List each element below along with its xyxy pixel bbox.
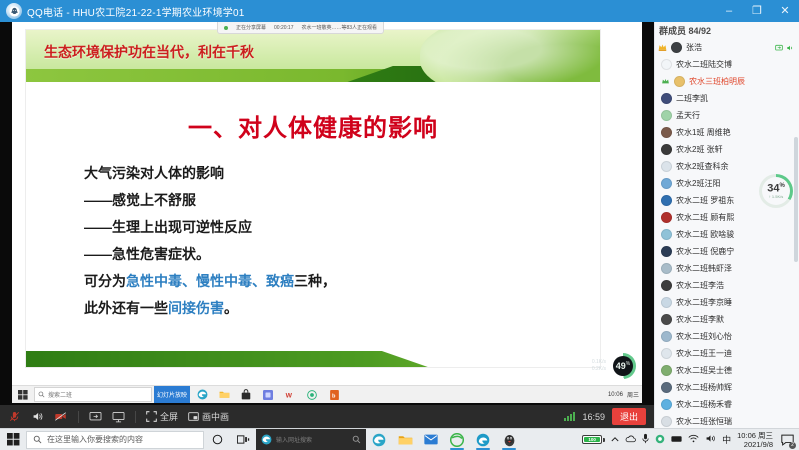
remote-app-explorer[interactable]: [214, 386, 234, 403]
remote-clock-date: 周三: [627, 390, 639, 399]
onedrive-icon[interactable]: [625, 435, 636, 445]
slide-line-5-pre: 可分为: [84, 273, 126, 289]
signal-strength-icon: [564, 412, 575, 421]
sharing-status-text: 正在分享屏幕: [236, 24, 266, 31]
avatar: [661, 297, 672, 308]
screen-share-icon: [775, 44, 783, 52]
sharing-viewers: 农水一班敬英……等83人正在观看: [301, 24, 377, 31]
avatar: [661, 178, 672, 189]
member-name: 二班李凯: [676, 93, 708, 104]
member-row[interactable]: 孟天行: [655, 107, 799, 124]
remote-search-text: 搜索二班: [48, 390, 72, 399]
search-icon: [352, 435, 361, 444]
avatar: [661, 416, 672, 427]
member-row[interactable]: 农水2班查科余: [655, 158, 799, 175]
notification-badge: 2: [789, 442, 796, 449]
member-row[interactable]: 农水二班张恒瑞: [655, 413, 799, 428]
slide-line-6-highlight: 间接伤害: [168, 300, 224, 316]
window-title-bar: QQ电话 - HHU农工院21-22-1学期农业环境学01 – ❐ ✕: [0, 0, 799, 22]
edge-icon: [261, 434, 272, 445]
member-name: 农水二班杨帅辉: [676, 382, 732, 393]
slide-line-2: ——感觉上不舒服: [84, 187, 544, 214]
cortana-icon: [212, 434, 223, 445]
avatar: [661, 127, 672, 138]
avatar: [661, 144, 672, 155]
tray-device-icon[interactable]: [671, 435, 682, 445]
cortana-button[interactable]: [204, 429, 230, 450]
avatar: [661, 246, 672, 257]
member-row[interactable]: 二班李凯: [655, 90, 799, 107]
powerpoint-slide: 生态环境保护功在当代，利在千秋 一、对人体健康的影响 大气污染对人体的影响 ——…: [26, 30, 600, 367]
member-name: 农水二班陆交博: [676, 59, 732, 70]
slide-header-band-dark: [347, 66, 600, 82]
member-name: 张浩: [686, 42, 702, 53]
taskbar-clock[interactable]: 10:06 周三 2021/9/8: [737, 431, 773, 449]
avatar: [661, 93, 672, 104]
task-view-button[interactable]: [230, 429, 256, 450]
volume-tray-icon[interactable]: [705, 434, 716, 445]
member-list-scrollbar[interactable]: [794, 137, 798, 262]
exit-call-button[interactable]: 退出: [612, 408, 646, 425]
avatar: [661, 59, 672, 70]
search-icon: [38, 391, 45, 398]
net-upload: 0.2K/s: [592, 366, 606, 373]
slide-line-6-post: 。: [224, 300, 238, 316]
task-view-icon: [237, 434, 250, 445]
member-row[interactable]: 农水2班 张轩: [655, 141, 799, 158]
taskbar-app-mail[interactable]: [418, 429, 444, 450]
ie-icon: [450, 433, 464, 447]
slide-body: 大气污染对人体的影响 ——感觉上不舒服 ——生理上出现可逆性反应 ——急性危害症…: [84, 160, 544, 322]
net-download: 0.1K/s: [592, 359, 606, 366]
avatar: [661, 314, 672, 325]
member-row[interactable]: 农水二班李浩: [655, 277, 799, 294]
admin-badge-icon: [661, 77, 670, 86]
remote-tray: 10:06 周三: [608, 390, 642, 399]
tray-expand-button[interactable]: [611, 435, 619, 444]
taskbar-app-explorer[interactable]: [392, 429, 418, 450]
mail-icon: [424, 434, 438, 445]
member-name: 农水二班 罗祖东: [676, 195, 734, 206]
member-name: 农水二班韩虾泽: [676, 263, 732, 274]
device-icon: [671, 435, 682, 443]
svg-text:b: b: [332, 393, 336, 399]
window-controls: – ❐ ✕: [715, 0, 799, 22]
windows-taskbar: 在这里输入你要搜索的内容 输入网址搜索: [0, 428, 799, 450]
member-row[interactable]: 张浩: [655, 39, 799, 56]
restore-button[interactable]: ❐: [743, 0, 771, 22]
network-tray-icon[interactable]: [688, 434, 699, 445]
member-panel: 群成员 84/92 张浩农水二班陆交博农水三班柏明辰二班李凯孟天行农水1班 周维…: [654, 22, 799, 428]
picture-in-picture-icon: [188, 411, 199, 422]
member-name: 农水二班李京睡: [676, 297, 732, 308]
fullscreen-icon: [146, 411, 157, 422]
qq-tray-icon: [655, 434, 665, 444]
ime-indicator[interactable]: 中: [722, 433, 731, 446]
avatar: [661, 382, 672, 393]
mic-muted-icon: [8, 410, 21, 423]
member-name: 农水三班柏明辰: [689, 76, 745, 87]
member-name: 农水1班 周维艳: [676, 127, 731, 138]
window-title: QQ电话 - HHU农工院21-22-1学期农业环境学01: [27, 4, 245, 19]
svg-text:W: W: [285, 392, 292, 399]
member-row[interactable]: 农水二班 顾有熙: [655, 209, 799, 226]
cpu-usage-ring: 49%: [610, 353, 636, 379]
taskbar-app-edge[interactable]: [366, 429, 392, 450]
avatar: [671, 42, 682, 53]
speaking-icon: [786, 44, 794, 52]
avatar: [661, 365, 672, 376]
member-name: 农水二班张恒瑞: [676, 416, 732, 427]
remote-task-active[interactable]: 幻灯片放映: [154, 386, 190, 403]
remote-clock-time: 10:06: [608, 392, 623, 398]
avatar: [661, 280, 672, 291]
network-gauge-value: 34%: [767, 183, 785, 195]
member-name: 农水2班 张轩: [676, 144, 723, 155]
member-name: 农水二班王一迪: [676, 348, 732, 359]
edge-url-placeholder: 输入网址搜索: [276, 435, 312, 444]
member-name: 农水2班汪阳: [676, 178, 720, 189]
slide-line-6: 此外还有一些间接伤害。: [84, 295, 544, 322]
member-row[interactable]: 农水二班韩虾泽: [655, 260, 799, 277]
network-gauge-sub: ↑ 1.5K/s: [767, 195, 785, 199]
member-row[interactable]: 农水二班刘心怡: [655, 328, 799, 345]
camera-off-icon: [54, 410, 68, 423]
slide-line-3: ——生理上出现可逆性反应: [84, 214, 544, 241]
remote-app-ppt[interactable]: [258, 386, 278, 403]
screen-root: QQ电话 - HHU农工院21-22-1学期农业环境学01 – ❐ ✕ 生态环境…: [0, 0, 799, 450]
remote-app-store[interactable]: [236, 386, 256, 403]
slide-line-1: 大气污染对人体的影响: [84, 160, 544, 187]
member-name: 农水二班杨禾睿: [676, 399, 732, 410]
cloud-icon: [625, 435, 636, 443]
taskbar-search-placeholder: 在这里输入你要搜索的内容: [47, 434, 143, 445]
edge-legacy-icon: [476, 433, 490, 447]
battery-indicator[interactable]: 100: [582, 435, 605, 444]
member-name: 农水二班 倪鹿宁: [676, 246, 734, 257]
member-row[interactable]: 农水三班柏明辰: [655, 73, 799, 90]
speaker-toggle-button[interactable]: [31, 410, 44, 423]
member-row[interactable]: 农水二班 欧啥骏: [655, 226, 799, 243]
qq-call-window: QQ电话 - HHU农工院21-22-1学期农业环境学01 – ❐ ✕ 生态环境…: [0, 0, 799, 428]
slide-header-title: 生态环境保护功在当代，利在千秋: [44, 42, 254, 62]
member-name: 农水二班李浩: [676, 280, 724, 291]
network-stats: 0.1K/s 0.2K/s: [592, 359, 606, 373]
remote-app-wps[interactable]: W: [280, 386, 300, 403]
callbar-separator-1: [78, 411, 79, 423]
taskbar-search-box[interactable]: 在这里输入你要搜索的内容: [26, 431, 204, 449]
member-name: 农水二班吴士德: [676, 365, 732, 376]
remote-search-box[interactable]: 搜索二班: [34, 387, 152, 402]
callbar-separator-2: [135, 411, 136, 423]
notification-center-button[interactable]: 2: [779, 432, 795, 448]
avatar: [661, 348, 672, 359]
avatar: [661, 161, 672, 172]
member-count-header: 群成员 84/92: [655, 22, 799, 38]
avatar: [661, 229, 672, 240]
member-row[interactable]: 农水二班杨禾睿: [655, 396, 799, 413]
volume-icon: [705, 434, 716, 443]
member-name: 农水二班刘心怡: [676, 331, 732, 342]
speaker-icon: [31, 410, 44, 423]
remote-app-qq[interactable]: [302, 386, 322, 403]
sharing-status-dot: [224, 26, 228, 30]
microphone-icon: [642, 433, 649, 444]
call-control-bar: 全屏 画中画 16:59 退出: [0, 405, 654, 428]
sharing-duration: 00:20:17: [274, 25, 293, 31]
mic-tray-icon[interactable]: [642, 433, 649, 446]
taskbar-app-edge-legacy[interactable]: [470, 429, 496, 450]
remote-desktop-view: 生态环境保护功在当代，利在千秋 一、对人体健康的影响 大气污染对人体的影响 ——…: [12, 22, 642, 403]
edge-icon: [372, 433, 386, 447]
chevron-up-icon: [611, 436, 619, 442]
member-row[interactable]: 农水二班王一迪: [655, 345, 799, 362]
avatar: [661, 212, 672, 223]
windows-logo-icon: [7, 433, 20, 446]
member-status-icons: [775, 44, 799, 52]
member-row[interactable]: 农水二班陆交博: [655, 56, 799, 73]
slide-line-6-pre: 此外还有一些: [84, 300, 168, 316]
pip-label: 画中画: [202, 410, 229, 423]
callbar-right-group: 16:59 退出: [564, 408, 646, 425]
network-gauge: 34% ↑ 1.5K/s: [759, 174, 793, 208]
remote-taskbar: 搜索二班 幻灯片放映 W: [12, 385, 642, 403]
clock-date: 2021/9/8: [737, 440, 773, 449]
member-row[interactable]: 农水二班吴士德: [655, 362, 799, 379]
minimize-button[interactable]: –: [715, 0, 743, 22]
start-button[interactable]: [0, 429, 26, 450]
member-row[interactable]: 农水1班 周维艳: [655, 124, 799, 141]
tray-qq-icon[interactable]: [655, 434, 665, 446]
member-name: 农水二班李默: [676, 314, 724, 325]
fullscreen-button[interactable]: 全屏: [146, 410, 178, 423]
close-button[interactable]: ✕: [771, 0, 799, 22]
avatar: [661, 110, 672, 121]
battery-icon: 100: [582, 435, 602, 444]
presentation-button[interactable]: [112, 411, 125, 423]
clock-time: 10:06 周三: [737, 431, 773, 440]
qq-phone-icon: [6, 3, 22, 19]
member-list[interactable]: 张浩农水二班陆交博农水三班柏明辰二班李凯孟天行农水1班 周维艳农水2班 张轩农水…: [655, 39, 799, 428]
slide-main-title: 一、对人体健康的影响: [26, 108, 600, 143]
search-icon: [33, 435, 42, 444]
pip-button[interactable]: 画中画: [188, 410, 229, 423]
network-gauge-text: 34% ↑ 1.5K/s: [767, 183, 785, 200]
remote-app-pdf[interactable]: b: [324, 386, 344, 403]
slide-line-5-post: 三种，: [294, 273, 336, 289]
member-name: 农水二班 欧啥骏: [676, 229, 734, 240]
share-screen-button[interactable]: [89, 411, 102, 423]
slide-line-5-highlight: 急性中毒、慢性中毒、致癌: [126, 273, 294, 289]
file-explorer-icon: [398, 434, 413, 446]
member-name: 农水2班查科余: [676, 161, 728, 172]
wifi-icon: [688, 434, 699, 443]
avatar: [661, 263, 672, 274]
member-row[interactable]: 农水二班 倪鹿宁: [655, 243, 799, 260]
presentation-icon: [112, 411, 125, 423]
avatar: [674, 76, 685, 87]
avatar: [661, 195, 672, 206]
slide-footer-band: [26, 351, 600, 367]
member-row[interactable]: 农水二班李默: [655, 311, 799, 328]
slide-header-band: [26, 69, 600, 82]
call-duration: 16:59: [582, 412, 605, 422]
edge-address-pill[interactable]: 输入网址搜索: [256, 429, 366, 450]
camera-toggle-button[interactable]: [54, 410, 68, 423]
battery-percent: 100: [584, 437, 600, 442]
screen-share-indicator[interactable]: 正在分享屏幕 00:20:17 农水一班敬英……等83人正在观看: [217, 22, 384, 34]
member-name: 农水二班 顾有熙: [676, 212, 734, 223]
member-name: 孟天行: [676, 110, 700, 121]
owner-crown-icon: [658, 43, 667, 52]
shared-screen-stage[interactable]: 生态环境保护功在当代，利在千秋 一、对人体健康的影响 大气污染对人体的影响 ——…: [0, 22, 654, 405]
mic-toggle-button[interactable]: [8, 410, 21, 423]
taskbar-app-qq[interactable]: [496, 429, 522, 450]
member-row[interactable]: 农水二班李京睡: [655, 294, 799, 311]
qq-penguin-icon: [503, 433, 516, 447]
avatar: [661, 331, 672, 342]
remote-app-edge[interactable]: [192, 386, 212, 403]
slide-line-5: 可分为急性中毒、慢性中毒、致癌三种，: [84, 268, 544, 295]
battery-cap: [603, 438, 605, 442]
fullscreen-label: 全屏: [160, 410, 178, 423]
share-screen-icon: [89, 411, 102, 423]
system-tray: 100 中: [582, 431, 799, 449]
cpu-usage-value: 49%: [616, 361, 630, 371]
remote-start-button[interactable]: [14, 386, 32, 404]
member-row[interactable]: 农水二班杨帅辉: [655, 379, 799, 396]
taskbar-app-ie[interactable]: [444, 429, 470, 450]
avatar: [661, 399, 672, 410]
performance-widget: 0.1K/s 0.2K/s 49%: [592, 353, 636, 379]
slide-line-4: ——急性危害症状。: [84, 241, 544, 268]
